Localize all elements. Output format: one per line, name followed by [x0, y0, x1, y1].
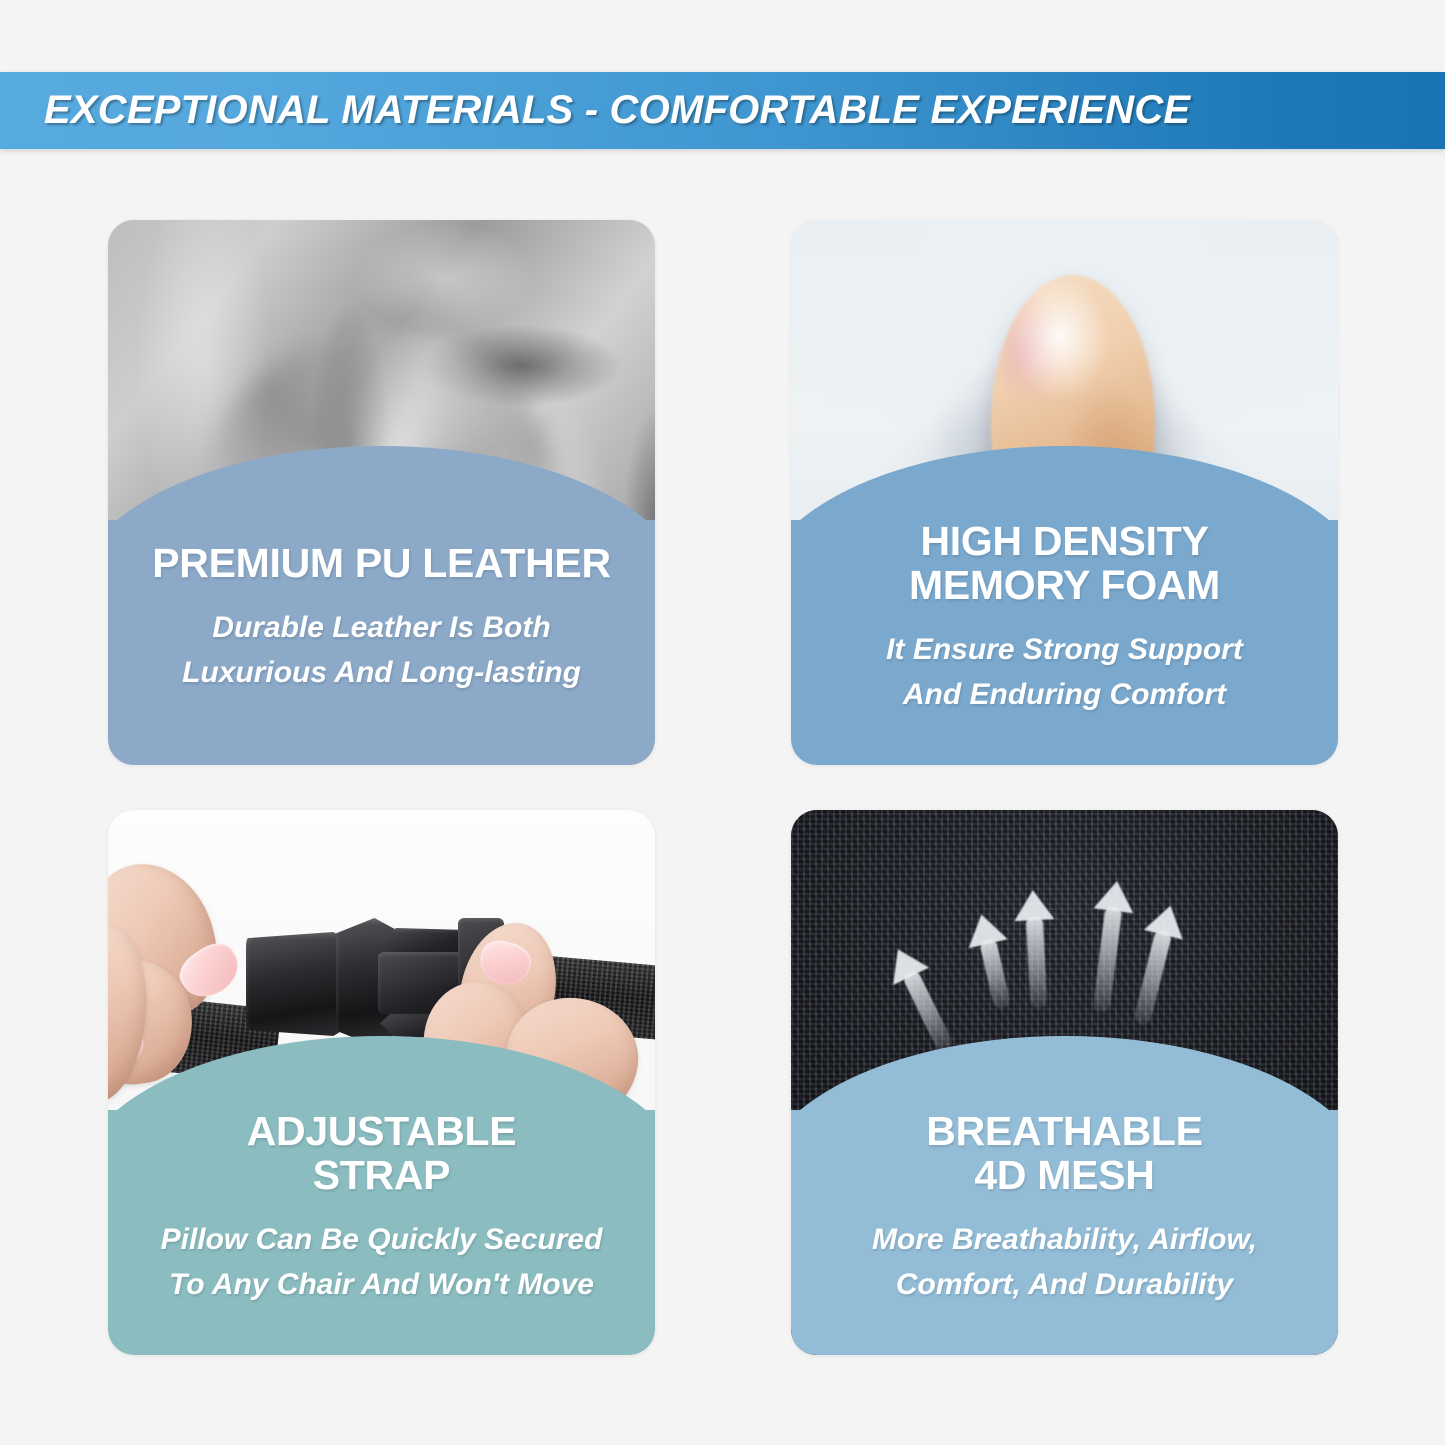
caption-text-block: ADJUSTABLE STRAP Pillow Can Be Quickly S… [108, 1076, 655, 1355]
card-subtitle: More Breathability, Airflow, Comfort, An… [872, 1217, 1257, 1307]
caption-panel: HIGH DENSITY MEMORY FOAM It Ensure Stron… [791, 480, 1338, 765]
caption-panel: BREATHABLE 4D MESH More Breathability, A… [791, 1070, 1338, 1355]
arrow-shaft [979, 938, 1011, 1010]
card-subtitle: Durable Leather Is Both Luxurious And Lo… [182, 605, 581, 695]
card-subtitle: It Ensure Strong Support And Enduring Co… [886, 627, 1243, 717]
feature-card-grid: PREMIUM PU LEATHER Durable Leather Is Bo… [108, 220, 1338, 1355]
caption-text-block: PREMIUM PU LEATHER Durable Leather Is Bo… [108, 486, 655, 765]
caption-text-block: HIGH DENSITY MEMORY FOAM It Ensure Stron… [791, 486, 1338, 765]
card-title: HIGH DENSITY MEMORY FOAM [909, 520, 1220, 608]
card-title: ADJUSTABLE STRAP [247, 1110, 517, 1198]
card-subtitle: Pillow Can Be Quickly Secured To Any Cha… [161, 1217, 603, 1307]
header-banner: EXCEPTIONAL MATERIALS - COMFORTABLE EXPE… [0, 72, 1445, 149]
caption-panel: ADJUSTABLE STRAP Pillow Can Be Quickly S… [108, 1070, 655, 1355]
feature-card-adjustable-strap[interactable]: ADJUSTABLE STRAP Pillow Can Be Quickly S… [108, 810, 655, 1355]
airflow-arrow-icon [1013, 889, 1059, 1009]
feature-card-premium-pu-leather[interactable]: PREMIUM PU LEATHER Durable Leather Is Bo… [108, 220, 655, 765]
card-title: BREATHABLE 4D MESH [926, 1110, 1202, 1198]
caption-panel: PREMIUM PU LEATHER Durable Leather Is Bo… [108, 480, 655, 765]
feature-card-high-density-memory-foam[interactable]: HIGH DENSITY MEMORY FOAM It Ensure Stron… [791, 220, 1338, 765]
banner-title: EXCEPTIONAL MATERIALS - COMFORTABLE EXPE… [44, 88, 1190, 133]
feature-card-breathable-4d-mesh[interactable]: BREATHABLE 4D MESH More Breathability, A… [791, 810, 1338, 1355]
card-title: PREMIUM PU LEATHER [152, 542, 611, 586]
arrow-shaft [1093, 906, 1123, 1013]
arrow-shaft [1026, 916, 1048, 1009]
caption-text-block: BREATHABLE 4D MESH More Breathability, A… [791, 1076, 1338, 1355]
